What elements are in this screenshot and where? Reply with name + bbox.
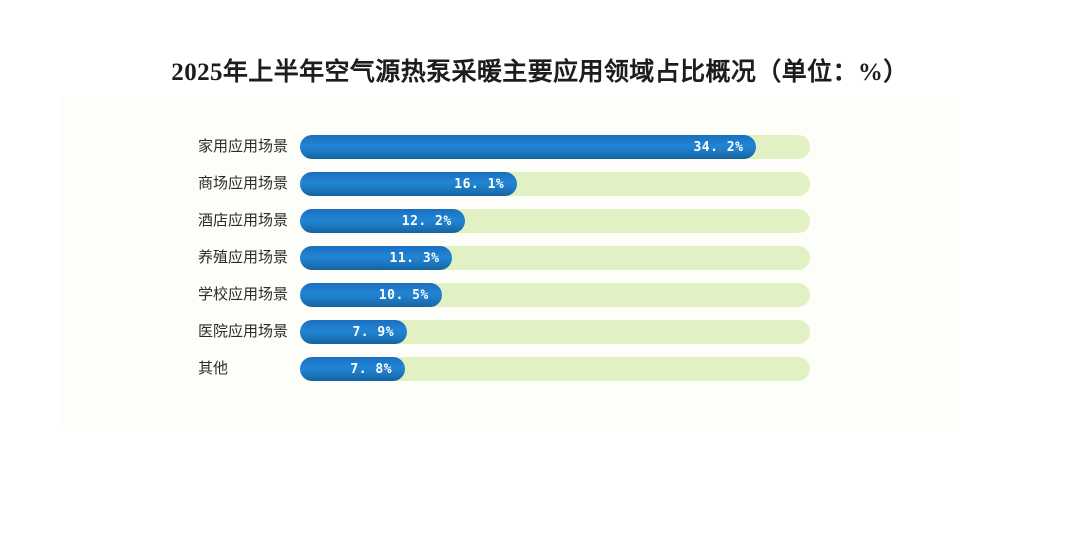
bar-value-label: 11. 3% xyxy=(390,251,453,266)
bar-fill[interactable]: 7. 9% xyxy=(300,320,407,344)
bar-category-label: 医院应用场景 xyxy=(198,320,288,344)
bar-category-label: 其他 xyxy=(198,357,228,381)
bar-row: 其他 7. 8% xyxy=(0,357,1080,381)
bar-value-label: 7. 9% xyxy=(352,325,407,340)
bar-category-label: 酒店应用场景 xyxy=(198,209,288,233)
bar-track: 10. 5% xyxy=(300,283,810,307)
bar-category-label: 家用应用场景 xyxy=(198,135,288,159)
bar-fill[interactable]: 11. 3% xyxy=(300,246,452,270)
bar-track: 7. 8% xyxy=(300,357,810,381)
bar-track: 12. 2% xyxy=(300,209,810,233)
bar-row: 酒店应用场景 12. 2% xyxy=(0,209,1080,233)
bar-fill[interactable]: 34. 2% xyxy=(300,135,756,159)
bar-value-label: 34. 2% xyxy=(693,140,756,155)
bar-fill[interactable]: 12. 2% xyxy=(300,209,465,233)
bar-value-label: 12. 2% xyxy=(402,214,465,229)
bar-row: 学校应用场景 10. 5% xyxy=(0,283,1080,307)
bar-chart-plot-area: 家用应用场景 34. 2% 商场应用场景 16. 1% 酒店应用场景 12. 2… xyxy=(0,135,1080,394)
bar-value-label: 7. 8% xyxy=(350,362,405,377)
bar-track: 11. 3% xyxy=(300,246,810,270)
bar-fill[interactable]: 7. 8% xyxy=(300,357,405,381)
bar-row: 医院应用场景 7. 9% xyxy=(0,320,1080,344)
bar-fill[interactable]: 10. 5% xyxy=(300,283,442,307)
bar-category-label: 学校应用场景 xyxy=(198,283,288,307)
chart-title: 2025年上半年空气源热泵采暖主要应用领域占比概况（单位：%） xyxy=(0,52,1080,88)
bar-category-label: 养殖应用场景 xyxy=(198,246,288,270)
bar-category-label: 商场应用场景 xyxy=(198,172,288,196)
bar-row: 养殖应用场景 11. 3% xyxy=(0,246,1080,270)
bar-row: 家用应用场景 34. 2% xyxy=(0,135,1080,159)
bar-row: 商场应用场景 16. 1% xyxy=(0,172,1080,196)
bar-fill[interactable]: 16. 1% xyxy=(300,172,517,196)
bar-value-label: 16. 1% xyxy=(454,177,517,192)
bar-value-label: 10. 5% xyxy=(379,288,442,303)
bar-track: 7. 9% xyxy=(300,320,810,344)
bar-track: 16. 1% xyxy=(300,172,810,196)
chart-page: 2025年上半年空气源热泵采暖主要应用领域占比概况（单位：%） 家用应用场景 3… xyxy=(0,0,1080,540)
bar-track: 34. 2% xyxy=(300,135,810,159)
